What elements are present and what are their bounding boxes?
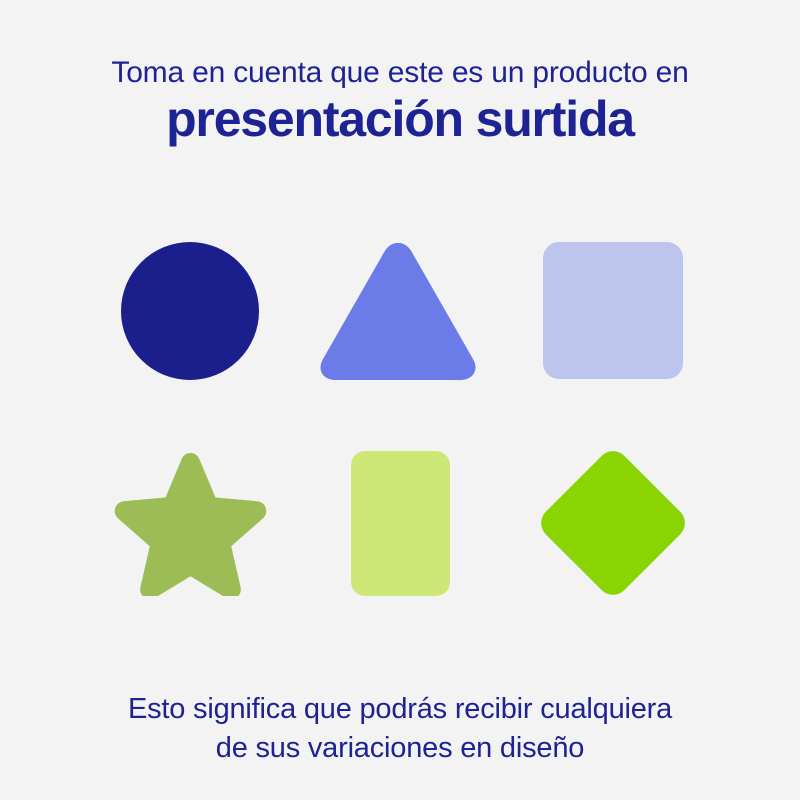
circle-icon — [121, 242, 259, 380]
shape-star — [105, 443, 275, 603]
shape-triangle — [308, 233, 488, 388]
rounded-square-shape-path — [543, 242, 683, 379]
shape-rounded-square — [528, 233, 698, 388]
footer-text: Esto significa que podrás recibir cualqu… — [0, 690, 800, 769]
triangle-shape-path — [321, 242, 476, 379]
diamond-icon — [534, 444, 692, 602]
footer-line-1: Esto significa que podrás recibir cualqu… — [0, 690, 800, 729]
star-icon — [113, 451, 268, 596]
circle-shape-path — [121, 242, 259, 380]
diamond-shape-path — [535, 445, 692, 602]
promo-card: Toma en cuenta que este es un producto e… — [0, 0, 800, 800]
star-shape-path — [114, 453, 266, 596]
footer-line-2: de sus variaciones en diseño — [0, 729, 800, 768]
shape-circle — [110, 233, 270, 388]
shapes-grid — [0, 215, 800, 625]
headline-line-2: presentación surtida — [0, 92, 800, 146]
headline-line-1: Toma en cuenta que este es un producto e… — [0, 58, 800, 92]
shape-diamond — [528, 437, 698, 609]
rounded-square-icon — [543, 242, 683, 379]
rounded-rect-icon — [351, 451, 450, 596]
headline: Toma en cuenta que este es un producto e… — [0, 58, 800, 146]
shape-rounded-rect — [330, 443, 470, 603]
triangle-icon — [317, 241, 479, 381]
rounded-rect-shape-path — [351, 451, 450, 596]
